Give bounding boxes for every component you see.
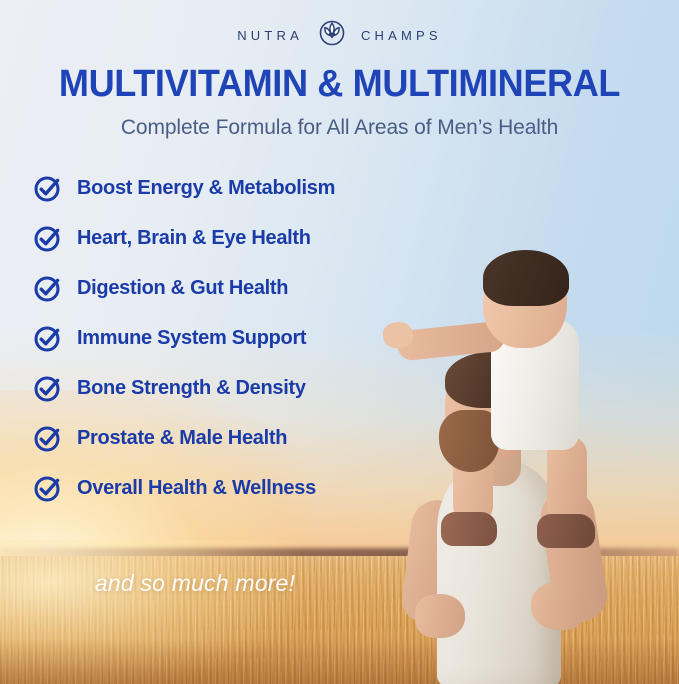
list-item-label: Heart, Brain & Eye Health <box>77 227 311 250</box>
check-circle-icon <box>33 373 63 403</box>
check-circle-icon <box>33 223 63 253</box>
list-item-label: Prostate & Male Health <box>77 427 287 450</box>
list-item: Digestion & Gut Health <box>33 273 335 303</box>
page-subtitle: Complete Formula for All Areas of Men’s … <box>0 116 679 140</box>
check-circle-icon <box>33 323 63 353</box>
list-item: Boost Energy & Metabolism <box>33 173 335 203</box>
brand-name-right: CHAMPS <box>361 28 442 43</box>
product-marketing-poster: NUTRA CHAMPS MULTIVITAMIN & MULTIMINERAL… <box>0 0 679 684</box>
tagline-text: and so much more! <box>0 570 390 597</box>
list-item: Immune System Support <box>33 323 335 353</box>
check-circle-icon <box>33 473 63 503</box>
list-item-label: Boost Energy & Metabolism <box>77 177 335 200</box>
check-circle-icon <box>33 173 63 203</box>
list-item-label: Bone Strength & Density <box>77 377 306 400</box>
lotus-flower-icon <box>317 18 347 53</box>
poster-content: NUTRA CHAMPS MULTIVITAMIN & MULTIMINERAL… <box>0 0 679 684</box>
list-item-label: Overall Health & Wellness <box>77 477 316 500</box>
check-circle-icon <box>33 423 63 453</box>
list-item: Heart, Brain & Eye Health <box>33 223 335 253</box>
brand-name-left: NUTRA <box>237 28 303 43</box>
list-item-label: Digestion & Gut Health <box>77 277 288 300</box>
check-circle-icon <box>33 273 63 303</box>
brand-logo: NUTRA CHAMPS <box>0 18 679 53</box>
list-item-label: Immune System Support <box>77 327 306 350</box>
list-item: Overall Health & Wellness <box>33 473 335 503</box>
benefits-list: Boost Energy & Metabolism Heart, Brain &… <box>33 173 335 503</box>
page-title: MULTIVITAMIN & MULTIMINERAL <box>17 63 662 106</box>
list-item: Prostate & Male Health <box>33 423 335 453</box>
list-item: Bone Strength & Density <box>33 373 335 403</box>
